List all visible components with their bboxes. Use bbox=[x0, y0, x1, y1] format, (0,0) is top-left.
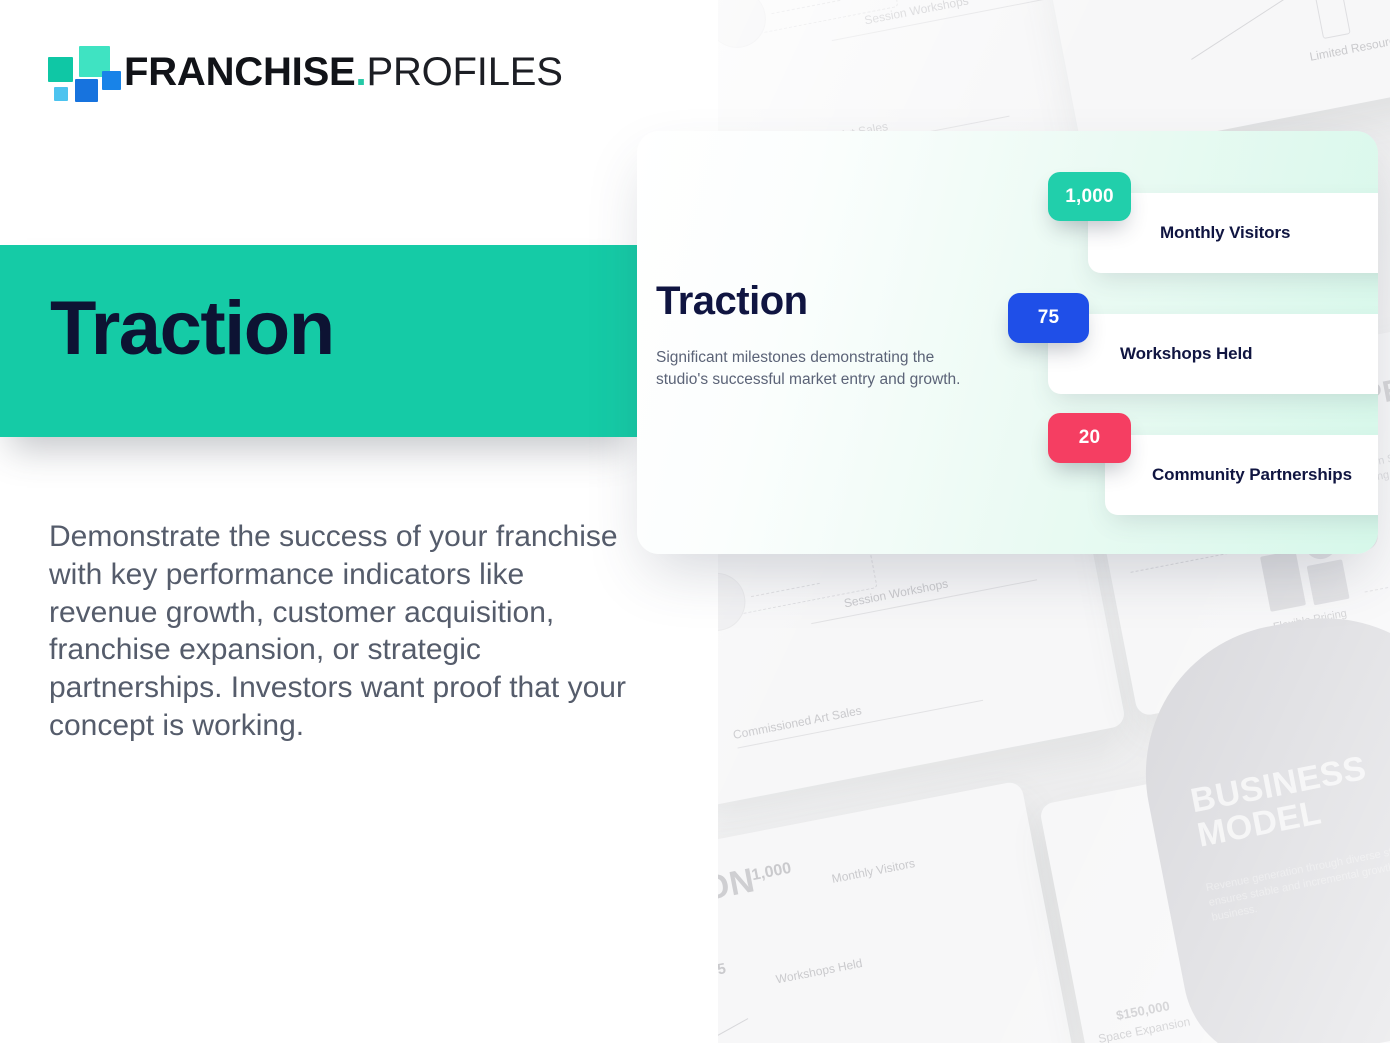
metric-row: Community Partnerships 20 bbox=[1007, 413, 1367, 533]
traction-preview-card: Traction Significant milestones demonstr… bbox=[637, 131, 1378, 554]
card-description: Significant milestones demonstrating the… bbox=[656, 347, 986, 391]
card-text-block: Traction Significant milestones demonstr… bbox=[656, 281, 986, 391]
page-title: Traction bbox=[50, 291, 334, 367]
brand-name-dot: . bbox=[356, 50, 367, 94]
brand-logo[interactable]: FRANCHISE.PROFILES bbox=[48, 44, 563, 100]
metric-value-badge: 75 bbox=[1008, 293, 1089, 343]
metric-label-card: Community Partnerships bbox=[1105, 435, 1378, 515]
metric-value-badge: 20 bbox=[1048, 413, 1131, 463]
hero-band: Traction bbox=[0, 245, 637, 437]
brand-name-light: PROFILES bbox=[366, 50, 562, 94]
metrics-list: Monthly Visitors 1,000 Workshops Held 75… bbox=[1007, 172, 1367, 533]
squares-mosaic-icon bbox=[48, 44, 110, 100]
body-paragraph: Demonstrate the success of your franchis… bbox=[49, 518, 629, 745]
metric-label-card: Workshops Held bbox=[1048, 314, 1378, 394]
metric-row: Monthly Visitors 1,000 bbox=[1007, 172, 1367, 292]
metric-label: Community Partnerships bbox=[1152, 464, 1352, 486]
metric-row: Workshops Held 75 bbox=[1007, 292, 1367, 413]
metric-value-badge: 1,000 bbox=[1048, 172, 1131, 221]
brand-wordmark: FRANCHISE.PROFILES bbox=[124, 52, 563, 92]
metric-label: Monthly Visitors bbox=[1160, 222, 1290, 244]
metric-label-card: Monthly Visitors bbox=[1088, 193, 1378, 273]
card-title: Traction bbox=[656, 281, 986, 321]
metric-label: Workshops Held bbox=[1120, 343, 1252, 365]
brand-name-bold: FRANCHISE bbox=[124, 50, 356, 94]
